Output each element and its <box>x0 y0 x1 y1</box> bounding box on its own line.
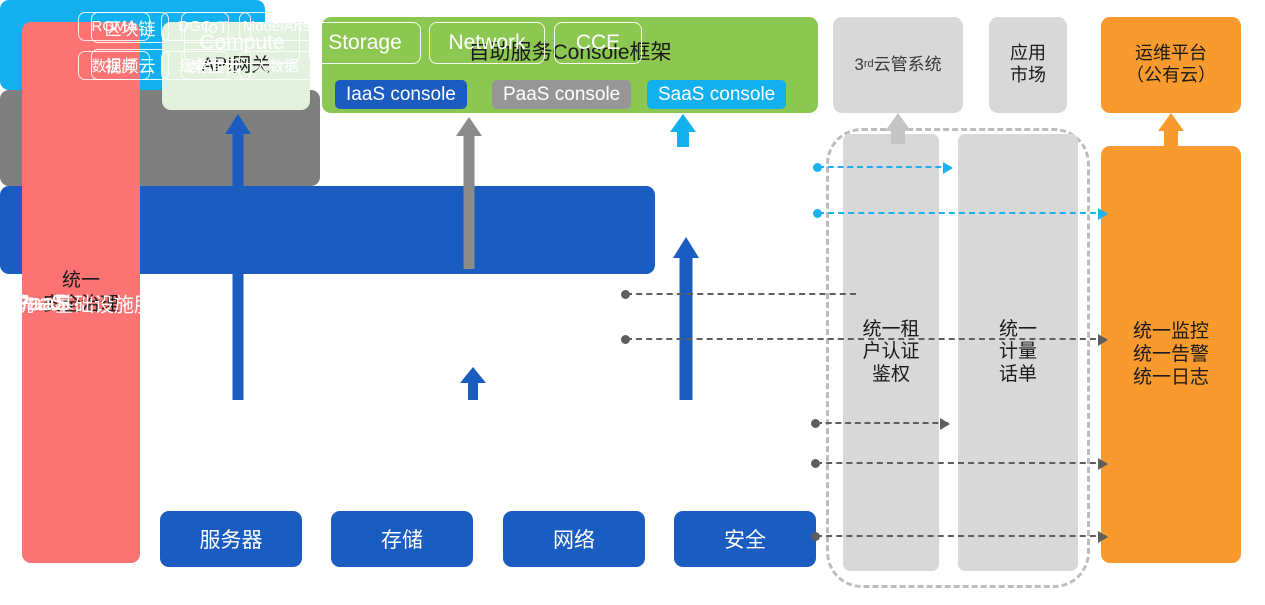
arrow-ops-to-platform <box>1157 113 1185 146</box>
hardware-box-network: 网络 <box>503 511 645 567</box>
arrow-infra-to-saas <box>672 237 700 400</box>
infra-chip-storage[interactable]: Storage <box>309 22 421 64</box>
hardware-box-server: 服务器 <box>160 511 302 567</box>
architecture-diagram: 统一 安全治理 API网关 自助服务Console框架 IaaS console… <box>0 0 1265 605</box>
dash-paas-to-auth <box>626 293 856 295</box>
infra-chip-network[interactable]: Network <box>429 22 545 64</box>
dash-origin-dot <box>621 290 630 299</box>
unified-tenant-auth-column: 统一租 户认证 鉴权 <box>843 134 939 571</box>
third-party-cloud-mgmt-box: 3rd云管系统 <box>833 17 963 113</box>
paas-console-chip[interactable]: PaaS console <box>492 80 631 109</box>
dash-hardware-to-ops <box>816 535 1106 537</box>
unified-monitoring-column: 统一监控 统一告警 统一日志 <box>1101 146 1241 563</box>
unified-infrastructure-label: 统一基础设施服务 <box>14 288 174 317</box>
dash-arrowhead <box>1098 531 1108 543</box>
dash-origin-dot <box>813 209 822 218</box>
dash-infra-to-auth <box>816 422 948 424</box>
ops-platform-public-cloud-box: 运维平台 （公有云） <box>1101 17 1241 113</box>
dash-saas-to-auth <box>818 166 951 168</box>
infra-chip-cce[interactable]: CCE <box>554 22 642 64</box>
dash-origin-dot <box>813 163 822 172</box>
dash-arrowhead <box>940 418 950 430</box>
paas-chip-roma[interactable]: ROMA <box>78 12 150 41</box>
hardware-box-storage: 存储 <box>331 511 473 567</box>
application-market-box: 应用 市场 <box>989 17 1067 113</box>
dash-infra-to-ops <box>816 462 1106 464</box>
dash-saas-to-ops <box>818 212 1106 214</box>
arrow-infra-to-api-gateway <box>225 114 251 400</box>
dash-arrowhead <box>1098 458 1108 470</box>
third-cloud-prefix: 3 <box>854 55 863 76</box>
infra-chip-compute[interactable]: Compute <box>184 22 300 64</box>
hardware-box-security: 安全 <box>674 511 816 567</box>
unified-metering-billing-column: 统一 计量 话单 <box>958 134 1078 571</box>
dash-origin-dot <box>811 419 820 428</box>
saas-console-chip[interactable]: SaaS console <box>647 80 786 109</box>
paas-chip-database[interactable]: 数据库 <box>78 51 150 80</box>
dash-paas-to-ops <box>626 338 1106 340</box>
arrow-infra-to-paas <box>461 367 485 400</box>
dash-arrowhead <box>1098 334 1108 346</box>
dash-origin-dot <box>811 532 820 541</box>
arrow-shared-to-third-cloud <box>884 113 912 144</box>
iaas-console-chip[interactable]: IaaS console <box>335 80 467 109</box>
dash-origin-dot <box>621 335 630 344</box>
dash-arrowhead <box>1098 208 1108 220</box>
dash-arrowhead <box>943 162 953 174</box>
third-cloud-superscript: rd <box>864 58 874 71</box>
dash-origin-dot <box>811 459 820 468</box>
arrow-saas-to-console <box>670 114 696 147</box>
arrow-paas-to-console <box>456 117 482 269</box>
third-cloud-suffix: 云管系统 <box>874 55 942 76</box>
